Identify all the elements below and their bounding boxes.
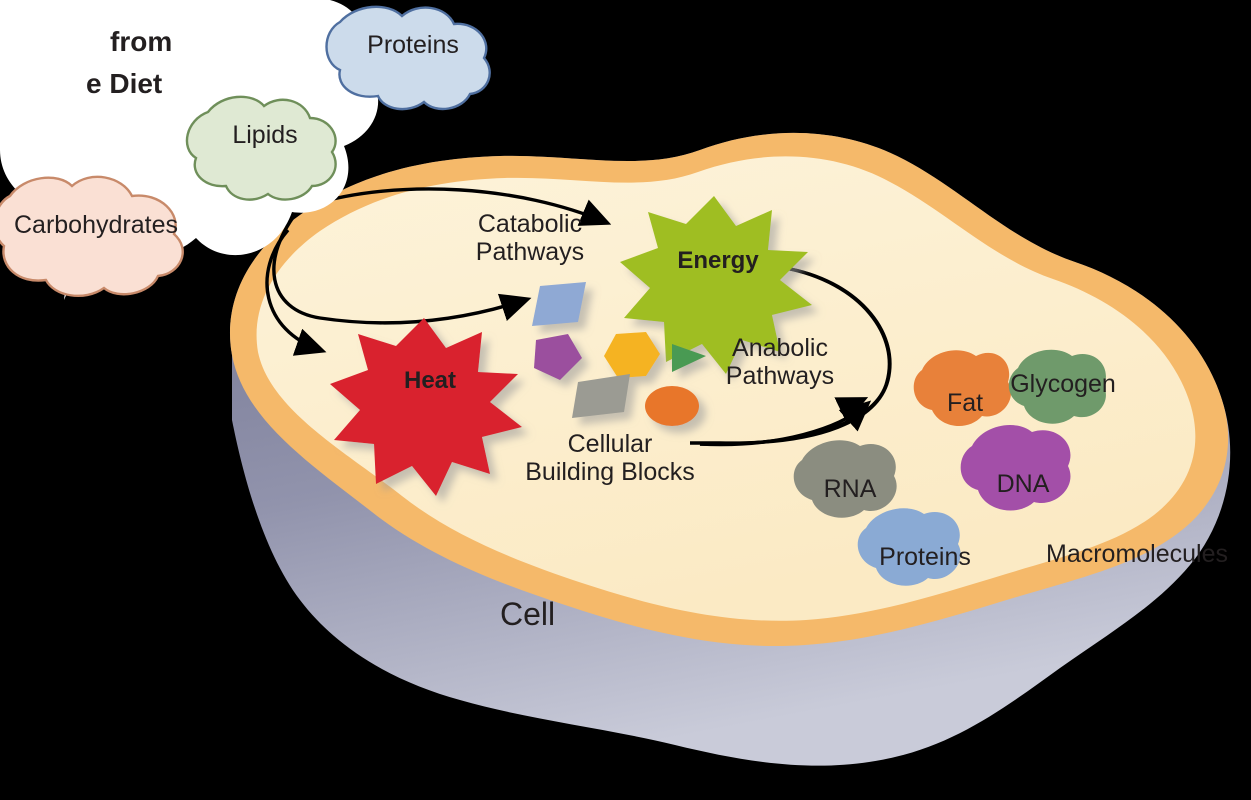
anabolic-pathways-label: Anabolic Pathways <box>700 334 860 390</box>
catabolic-pathways-label: Catabolic Pathways <box>440 210 620 266</box>
macromolecule-label-proteins: Proteins <box>855 543 995 571</box>
diagram-canvas <box>0 0 1251 800</box>
macromolecule-label-fat: Fat <box>920 389 1010 417</box>
macromolecule-label-rna: RNA <box>805 475 895 503</box>
macromolecule-label-glycogen: Glycogen <box>1000 370 1126 398</box>
cloud-label-lipids: Lipids <box>190 121 340 149</box>
macromolecule-label-dna: DNA <box>978 470 1068 498</box>
blue-parallelogram-shape <box>532 282 586 326</box>
heat-label: Heat <box>360 368 500 395</box>
orange-ellipse-shape <box>645 386 699 426</box>
building-blocks-label: Cellular Building Blocks <box>500 430 720 486</box>
energy-label: Energy <box>648 248 788 275</box>
metabolism-diagram: from e Diet Proteins Lipids Carbohydrate… <box>0 0 1251 800</box>
cell-label: Cell <box>500 597 555 633</box>
title-line-2: e Diet <box>86 68 162 99</box>
macromolecules-group-label: Macromolecules <box>1046 540 1228 568</box>
cloud-label-carbohydrates: Carbohydrates <box>6 211 186 239</box>
title-line-1: from <box>110 26 172 57</box>
cloud-label-proteins: Proteins <box>330 31 496 59</box>
